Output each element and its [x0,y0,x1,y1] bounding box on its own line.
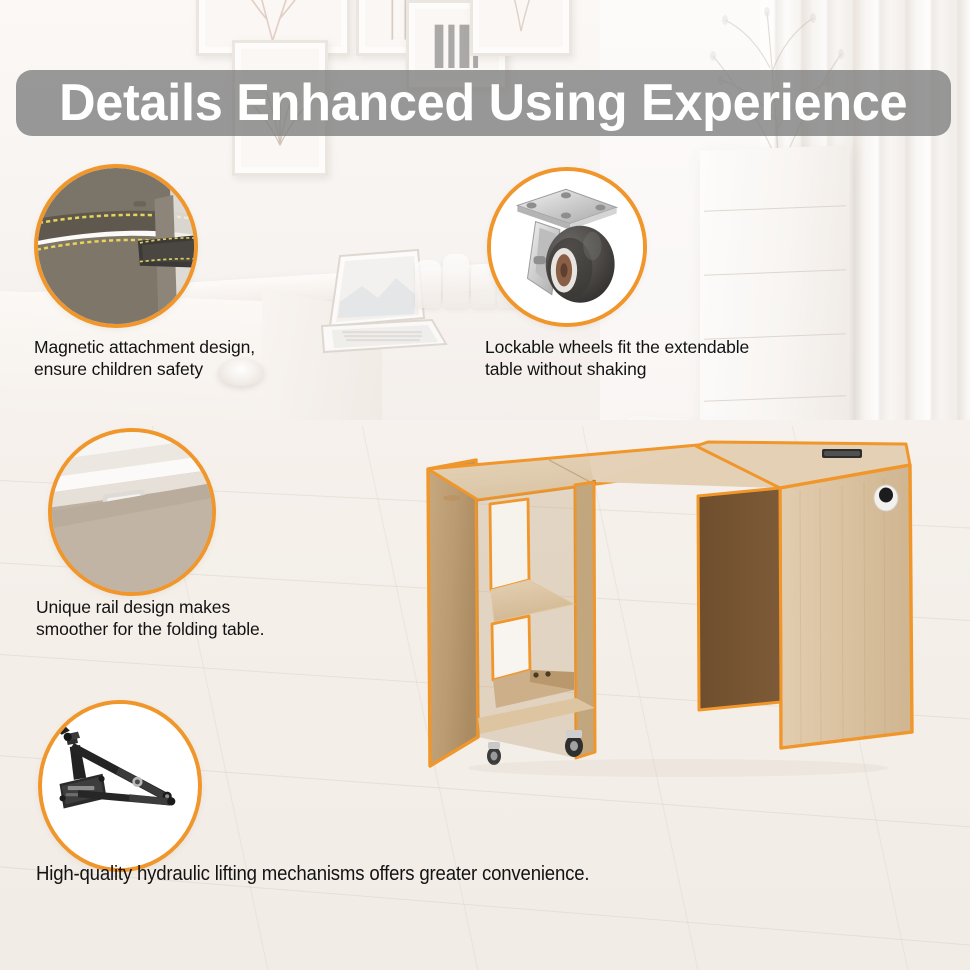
callout-caption-magnetic: Magnetic attachment design, ensure child… [34,336,364,381]
desk-center-divider [575,482,595,758]
desk-right-panel [780,465,912,748]
magnetic-attachment-icon [38,168,194,324]
caster-wheel [565,730,583,757]
callout-caption-hydraulic: High-quality hydraulic lifting mechanism… [36,862,668,888]
hydraulic-strut-icon [42,704,198,868]
slide-rail-icon [52,432,212,592]
white-dresser [700,145,850,451]
caster-wheel-bubble [487,167,647,327]
caster-wheel [487,742,501,765]
caster-wheel-icon [491,171,643,323]
wall-art-frame [470,0,572,56]
title-banner: Details Enhanced Using Experience [16,70,951,136]
page-title: Details Enhanced Using Experience [59,77,907,129]
product-desk [408,432,928,777]
magnetic-attachment-bubble [34,164,198,328]
slide-rail-bubble [48,428,216,596]
cable-grommet-icon [874,485,898,511]
desk-left-side-panel [428,460,478,766]
callout-caption-rail: Unique rail design makes smoother for th… [36,596,336,641]
callout-caption-wheels: Lockable wheels fit the extendable table… [485,336,825,381]
desk-back-panel [698,488,781,710]
hydraulic-strut-bubble [38,700,202,872]
product-feature-image: Details Enhanced Using Experience [0,0,970,970]
